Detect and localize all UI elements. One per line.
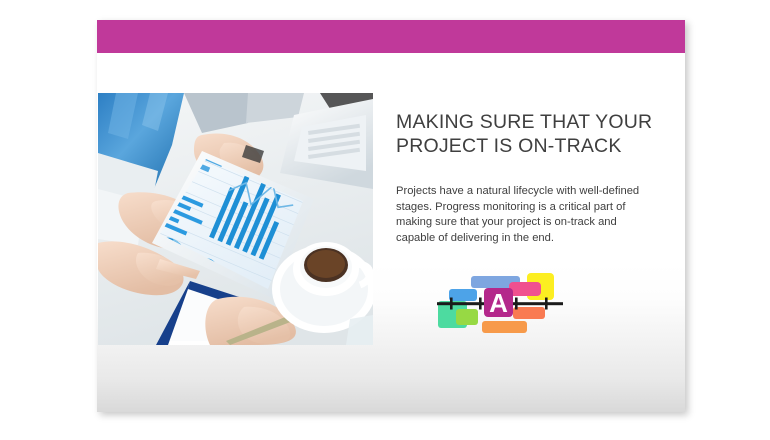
orange-bar-right	[513, 307, 545, 319]
blue-bar-left	[449, 289, 477, 301]
lime-bar	[456, 309, 478, 325]
body-paragraph: Projects have a natural lifecycle with w…	[396, 184, 654, 246]
photo-artwork	[98, 93, 373, 345]
slide-accent-bar	[97, 20, 685, 53]
gantt-letter: A	[489, 288, 508, 318]
business-tablet-photo	[98, 93, 373, 345]
slide-canvas: MAKING SURE THAT YOUR PROJECT IS ON-TRAC…	[97, 20, 685, 412]
gantt-chart-icon: A	[435, 263, 575, 341]
gantt-artwork: A	[435, 263, 575, 341]
pink-bar	[509, 282, 541, 296]
text-column: MAKING SURE THAT YOUR PROJECT IS ON-TRAC…	[396, 110, 654, 246]
orange-bar-bottom	[482, 321, 527, 333]
page-title: MAKING SURE THAT YOUR PROJECT IS ON-TRAC…	[396, 110, 654, 158]
